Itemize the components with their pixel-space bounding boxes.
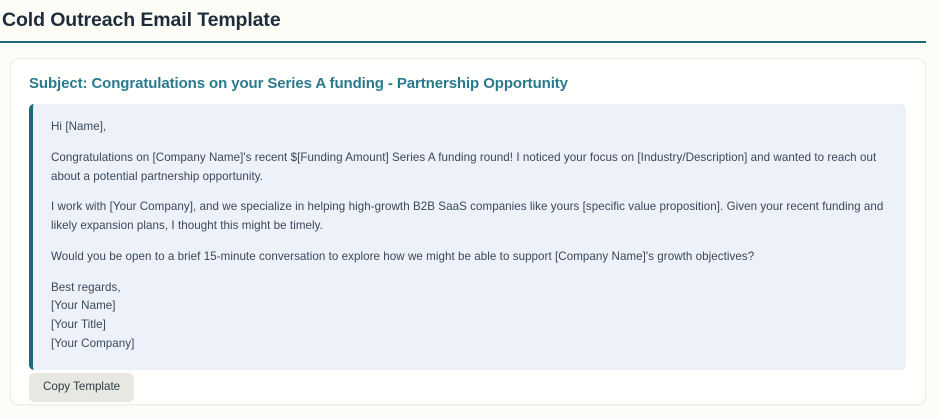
page-root: Cold Outreach Email Template Subject: Co… xyxy=(0,0,940,418)
copy-template-button[interactable]: Copy Template xyxy=(29,373,134,402)
signature-line-closing: Best regards, xyxy=(51,279,890,298)
signature-line-title: [Your Title] xyxy=(51,316,890,335)
email-signature-block: Best regards, [Your Name] [Your Title] [… xyxy=(51,279,890,354)
email-paragraph-value-proposition: I work with [Your Company], and we speci… xyxy=(51,198,890,236)
title-divider xyxy=(0,41,926,43)
signature-line-name: [Your Name] xyxy=(51,297,890,316)
email-body-quote: Hi [Name], Congratulations on [Company N… xyxy=(29,104,906,370)
email-template-card: Subject: Congratulations on your Series … xyxy=(10,58,926,405)
email-paragraph-congratulations: Congratulations on [Company Name]'s rece… xyxy=(51,149,890,187)
signature-line-company: [Your Company] xyxy=(51,335,890,354)
page-title: Cold Outreach Email Template xyxy=(2,9,281,32)
email-paragraph-greeting: Hi [Name], xyxy=(51,118,890,137)
email-paragraph-call-to-action: Would you be open to a brief 15-minute c… xyxy=(51,248,890,267)
email-subject-line: Subject: Congratulations on your Series … xyxy=(29,75,568,92)
